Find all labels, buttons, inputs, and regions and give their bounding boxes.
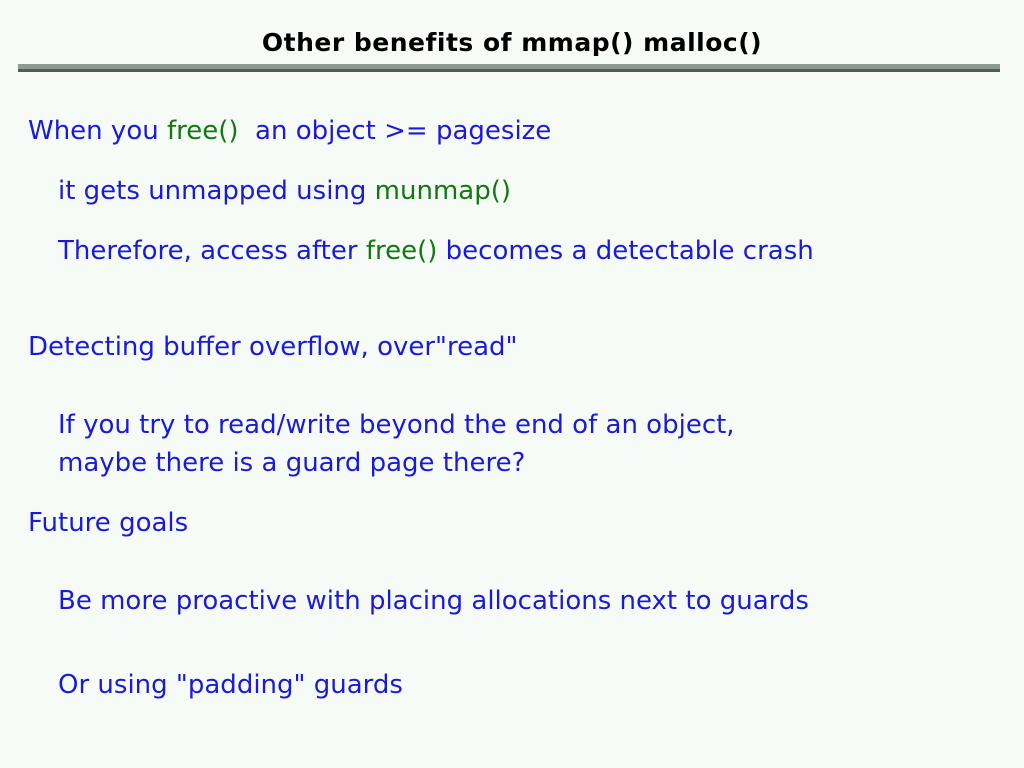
bullet-unmapped-munmap: it gets unmapped using munmap() — [58, 172, 1024, 210]
text-run: an object >= pagesize — [239, 116, 552, 146]
text-run: Therefore, access after — [58, 236, 366, 266]
bullet-guard-page-question-line2: maybe there is a guard page there? — [58, 444, 1024, 482]
spacer — [0, 482, 1024, 504]
page-title: Other benefits of mmap() malloc() — [0, 28, 1024, 58]
spacer — [0, 366, 1024, 406]
slide: Other benefits of mmap() malloc() When y… — [0, 0, 1024, 768]
spacer — [0, 542, 1024, 582]
bullet-free-pagesize-heading: When you free() an object >= pagesize — [28, 112, 1024, 150]
code-token: free() — [366, 236, 438, 266]
bullet-detecting-overflow-heading: Detecting buffer overflow, over"read" — [28, 328, 1024, 366]
text-run: it gets unmapped using — [58, 176, 375, 206]
bullet-future-goal-padding-guards: Or using "padding" guards — [58, 666, 1024, 704]
code-token: munmap() — [375, 176, 511, 206]
title-divider — [18, 64, 1000, 72]
text-run: maybe there is a guard page there? — [58, 448, 525, 478]
slide-body: When you free() an object >= pagesize it… — [0, 112, 1024, 704]
text-run: becomes a detectable crash — [437, 236, 813, 266]
text-run: Be more proactive with placing allocatio… — [58, 586, 809, 616]
bullet-guard-page-question-line1: If you try to read/write beyond the end … — [58, 406, 1024, 444]
text-run: Future goals — [28, 508, 188, 538]
bullet-future-goals-heading: Future goals — [28, 504, 1024, 542]
text-run: When you — [28, 116, 167, 146]
spacer — [0, 150, 1024, 172]
text-run: If you try to read/write beyond the end … — [58, 410, 735, 440]
text-run: Or using "padding" guards — [58, 670, 403, 700]
spacer — [0, 270, 1024, 328]
bullet-access-after-free-crash: Therefore, access after free() becomes a… — [58, 232, 1024, 270]
bullet-future-goal-proactive: Be more proactive with placing allocatio… — [58, 582, 1024, 620]
text-run: Detecting buffer overflow, over"read" — [28, 332, 518, 362]
code-token: free() — [167, 116, 239, 146]
spacer — [0, 620, 1024, 666]
spacer — [0, 210, 1024, 232]
